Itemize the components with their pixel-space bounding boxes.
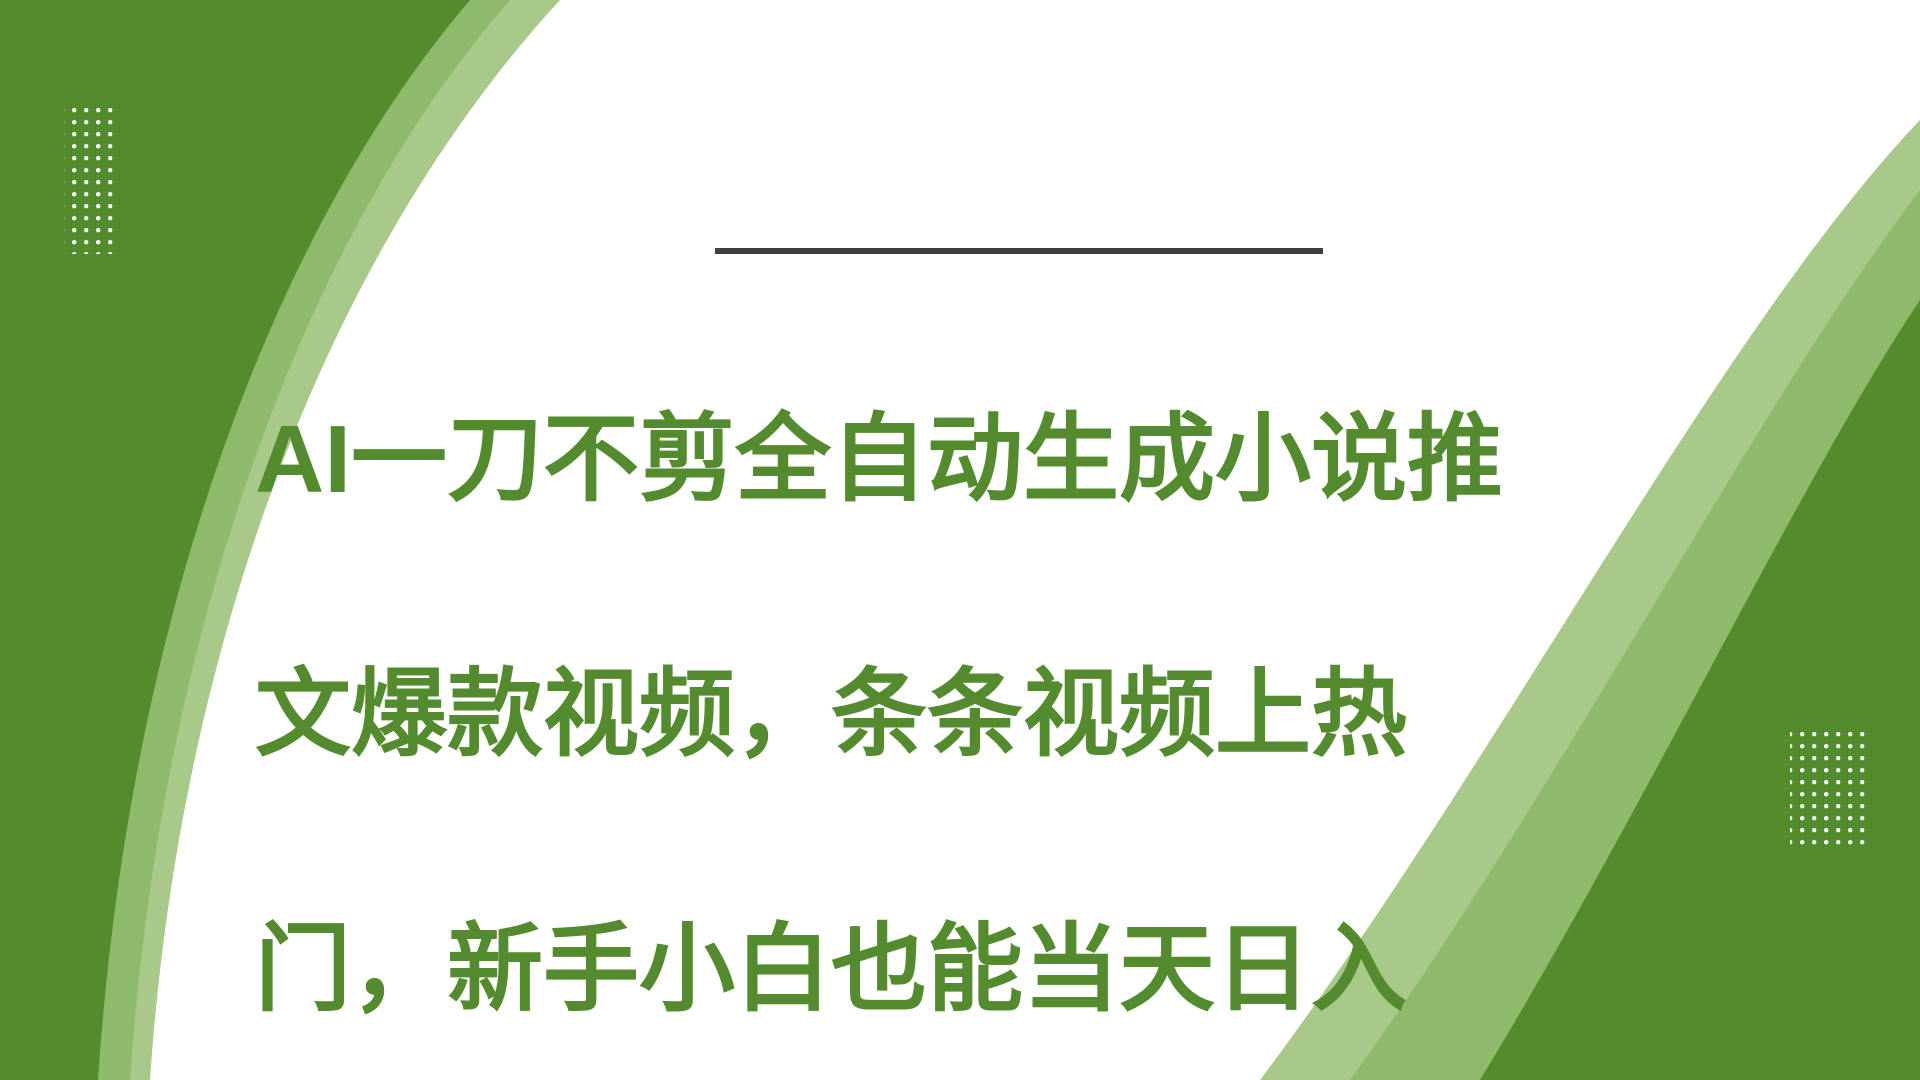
poster-canvas: AI一刀不剪全自动生成小说推 文爆款视频，条条视频上热 门，新手小白也能当天日入…	[0, 0, 1920, 1080]
headline-line-1: AI一刀不剪全自动生成小说推	[255, 396, 1675, 524]
headline-line-3: 门，新手小白也能当天日入	[255, 906, 1675, 1034]
page-title: AI一刀不剪全自动生成小说推 文爆款视频，条条视频上热 门，新手小白也能当天日入…	[255, 268, 1675, 1080]
headline-line-2: 文爆款视频，条条视频上热	[255, 651, 1675, 779]
poster-content: AI一刀不剪全自动生成小说推 文爆款视频，条条视频上热 门，新手小白也能当天日入…	[0, 0, 1920, 1080]
title-divider-rule	[715, 248, 1323, 254]
